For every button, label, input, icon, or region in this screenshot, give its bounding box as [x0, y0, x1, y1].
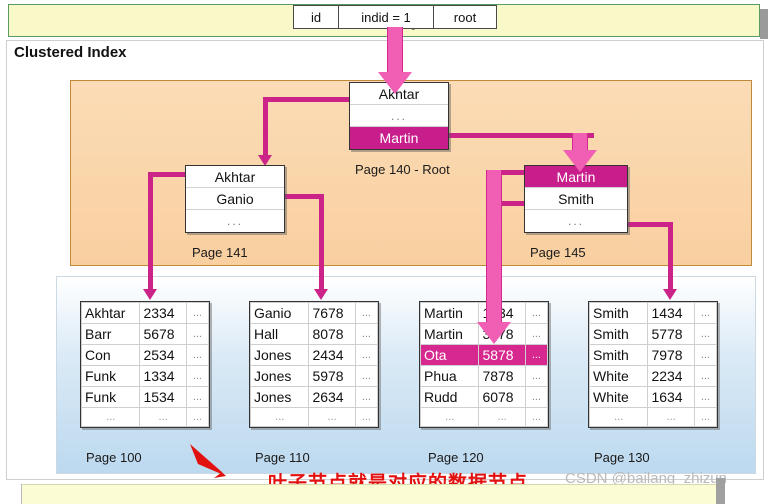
- index-entry-ellipsis: ...: [525, 210, 627, 232]
- cell-name: Jones: [251, 345, 309, 366]
- cell-more: ...: [186, 303, 208, 324]
- cell-value: ...: [479, 408, 525, 427]
- cell-more: ...: [694, 345, 716, 366]
- cell-name: White: [590, 387, 648, 408]
- cell-name: ...: [251, 408, 309, 427]
- table-row[interactable]: Ganio 7678 ...: [251, 303, 378, 324]
- cell-more: ...: [355, 303, 377, 324]
- table-row[interactable]: Funk 1334 ...: [82, 366, 209, 387]
- cell-more: ...: [525, 345, 547, 366]
- page-caption-100: Page 100: [86, 450, 142, 465]
- cell-more: ...: [355, 408, 377, 427]
- cell-value: 2534: [140, 345, 186, 366]
- table-row[interactable]: Martin 1234 ...: [421, 303, 548, 324]
- cell-more: ...: [694, 303, 716, 324]
- connector-141-to-100-v: [148, 172, 153, 290]
- table-row[interactable]: Rudd 6078 ...: [421, 387, 548, 408]
- cell-value: 1434: [648, 303, 694, 324]
- index-node-page-141[interactable]: Akhtar Ganio ...: [185, 165, 285, 233]
- cell-more: ...: [694, 408, 716, 427]
- cell-more: ...: [186, 345, 208, 366]
- cell-name: White: [590, 366, 648, 387]
- cell-name: Funk: [82, 387, 140, 408]
- table-row-highlighted[interactable]: Ota 5878 ...: [421, 345, 548, 366]
- cell-more: ...: [525, 366, 547, 387]
- data-page-110[interactable]: Ganio 7678 ... Hall 8078 ... Jones 2434 …: [249, 301, 379, 428]
- data-page-120[interactable]: Martin 1234 ... Martin 3778 ... Ota 5878…: [419, 301, 549, 428]
- table-row-ellipsis: ... ... ...: [590, 408, 717, 427]
- connector-141-to-110-v: [319, 194, 324, 290]
- cell-name: Con: [82, 345, 140, 366]
- connector-root-to-141-h: [263, 97, 353, 102]
- table-row[interactable]: Hall 8078 ...: [251, 324, 378, 345]
- data-page-130[interactable]: Smith 1434 ... Smith 5778 ... Smith 7978…: [588, 301, 718, 428]
- cell-value: ...: [140, 408, 186, 427]
- cell-name: Funk: [82, 366, 140, 387]
- table-row[interactable]: Smith 5778 ...: [590, 324, 717, 345]
- cell-value: 1634: [648, 387, 694, 408]
- diagram-canvas: sysindexes id indid = 1 root Clustered I…: [0, 0, 776, 504]
- connector-141-to-100-h: [148, 172, 190, 177]
- cell-value: 1334: [140, 366, 186, 387]
- cell-name: Barr: [82, 324, 140, 345]
- sysindexes-row: id indid = 1 root: [293, 5, 497, 29]
- page-caption-140: Page 140 - Root: [355, 162, 450, 177]
- cell-value: ...: [309, 408, 355, 427]
- cell-more: ...: [355, 366, 377, 387]
- cell-value: 1534: [140, 387, 186, 408]
- cell-name: Smith: [590, 303, 648, 324]
- table-row[interactable]: Jones 2434 ...: [251, 345, 378, 366]
- page-caption-145: Page 145: [530, 245, 586, 260]
- arrowhead-145-to-130: [663, 289, 677, 300]
- cell-name: Smith: [590, 324, 648, 345]
- connector-141-to-110-h: [281, 194, 324, 199]
- page-caption-141: Page 141: [192, 245, 248, 260]
- connector-root-to-141-v: [263, 97, 268, 157]
- cell-value: 8078: [309, 324, 355, 345]
- page-caption-130: Page 130: [594, 450, 650, 465]
- cell-value: 5678: [140, 324, 186, 345]
- cell-name: ...: [590, 408, 648, 427]
- cell-name: Phua: [421, 366, 479, 387]
- cell-more: ...: [186, 408, 208, 427]
- table-row-ellipsis: ... ... ...: [251, 408, 378, 427]
- table-row[interactable]: White 2234 ...: [590, 366, 717, 387]
- cell-more: ...: [186, 366, 208, 387]
- bottom-banner-artifact: [0, 484, 716, 504]
- index-entry-highlighted[interactable]: Martin: [350, 127, 448, 149]
- cell-name: Martin: [421, 303, 479, 324]
- cell-name: Akhtar: [82, 303, 140, 324]
- cell-more: ...: [525, 387, 547, 408]
- connector-145-to-130-v: [668, 222, 673, 290]
- diagram-title: Clustered Index: [14, 44, 127, 61]
- cell-more: ...: [355, 387, 377, 408]
- cell-value: 2334: [140, 303, 186, 324]
- cell-value: ...: [648, 408, 694, 427]
- index-entry[interactable]: Ganio: [186, 188, 284, 210]
- page-caption-120: Page 120: [428, 450, 484, 465]
- table-row[interactable]: White 1634 ...: [590, 387, 717, 408]
- cell-value: 5978: [309, 366, 355, 387]
- connector-145-to-130-h: [625, 222, 673, 227]
- annotation-arrow-icon: [186, 442, 256, 482]
- table-row[interactable]: Phua 7878 ...: [421, 366, 548, 387]
- data-page-100[interactable]: Akhtar 2334 ... Barr 5678 ... Con 2534 .…: [80, 301, 210, 428]
- table-row[interactable]: Jones 5978 ...: [251, 366, 378, 387]
- cell-value: 6078: [479, 387, 525, 408]
- cell-name: ...: [421, 408, 479, 427]
- sysindexes-cell-id: id: [294, 6, 339, 28]
- table-row[interactable]: Barr 5678 ...: [82, 324, 209, 345]
- index-node-page-145[interactable]: Martin Smith ...: [524, 165, 628, 233]
- cell-name: Martin: [421, 324, 479, 345]
- arrowhead-141-to-100: [143, 289, 157, 300]
- index-entry[interactable]: Akhtar: [186, 166, 284, 188]
- cell-value: 2434: [309, 345, 355, 366]
- sysindexes-cell-root: root: [434, 6, 496, 28]
- cell-name: Jones: [251, 387, 309, 408]
- cell-more: ...: [186, 324, 208, 345]
- table-row-ellipsis: ... ... ...: [82, 408, 209, 427]
- sysindexes-cell-indid: indid = 1: [339, 6, 434, 28]
- bottom-banner-left-cap: [0, 484, 22, 504]
- cell-more: ...: [525, 303, 547, 324]
- cell-more: ...: [694, 366, 716, 387]
- cell-name: Ganio: [251, 303, 309, 324]
- table-row[interactable]: Smith 1434 ...: [590, 303, 717, 324]
- cell-value: 5778: [648, 324, 694, 345]
- cell-value: 2234: [648, 366, 694, 387]
- cell-name: ...: [82, 408, 140, 427]
- cell-value: 7678: [309, 303, 355, 324]
- arrowhead-141-to-110: [314, 289, 328, 300]
- cell-more: ...: [355, 324, 377, 345]
- cell-name: Rudd: [421, 387, 479, 408]
- index-entry[interactable]: Smith: [525, 188, 627, 210]
- table-row[interactable]: Smith 7978 ...: [590, 345, 717, 366]
- cell-more: ...: [186, 387, 208, 408]
- cell-more: ...: [525, 324, 547, 345]
- cell-value: 5878: [479, 345, 525, 366]
- index-entry-ellipsis: ...: [186, 210, 284, 232]
- cell-more: ...: [355, 345, 377, 366]
- cell-more: ...: [694, 324, 716, 345]
- table-row[interactable]: Akhtar 2334 ...: [82, 303, 209, 324]
- cell-more: ...: [694, 387, 716, 408]
- page-caption-110: Page 110: [255, 450, 310, 465]
- cell-value: 7878: [479, 366, 525, 387]
- cell-value: 2634: [309, 387, 355, 408]
- table-row[interactable]: Con 2534 ...: [82, 345, 209, 366]
- banner-scrollbar-artifact: [760, 9, 768, 39]
- bottom-scrollbar-artifact: [716, 478, 725, 504]
- cell-name: Jones: [251, 366, 309, 387]
- table-row[interactable]: Funk 1534 ...: [82, 387, 209, 408]
- cell-more: ...: [525, 408, 547, 427]
- cell-name: Smith: [590, 345, 648, 366]
- cell-value: 7978: [648, 345, 694, 366]
- table-row-ellipsis: ... ... ...: [421, 408, 548, 427]
- cell-name: Ota: [421, 345, 479, 366]
- table-row[interactable]: Jones 2634 ...: [251, 387, 378, 408]
- index-entry-ellipsis: ...: [350, 105, 448, 127]
- cell-name: Hall: [251, 324, 309, 345]
